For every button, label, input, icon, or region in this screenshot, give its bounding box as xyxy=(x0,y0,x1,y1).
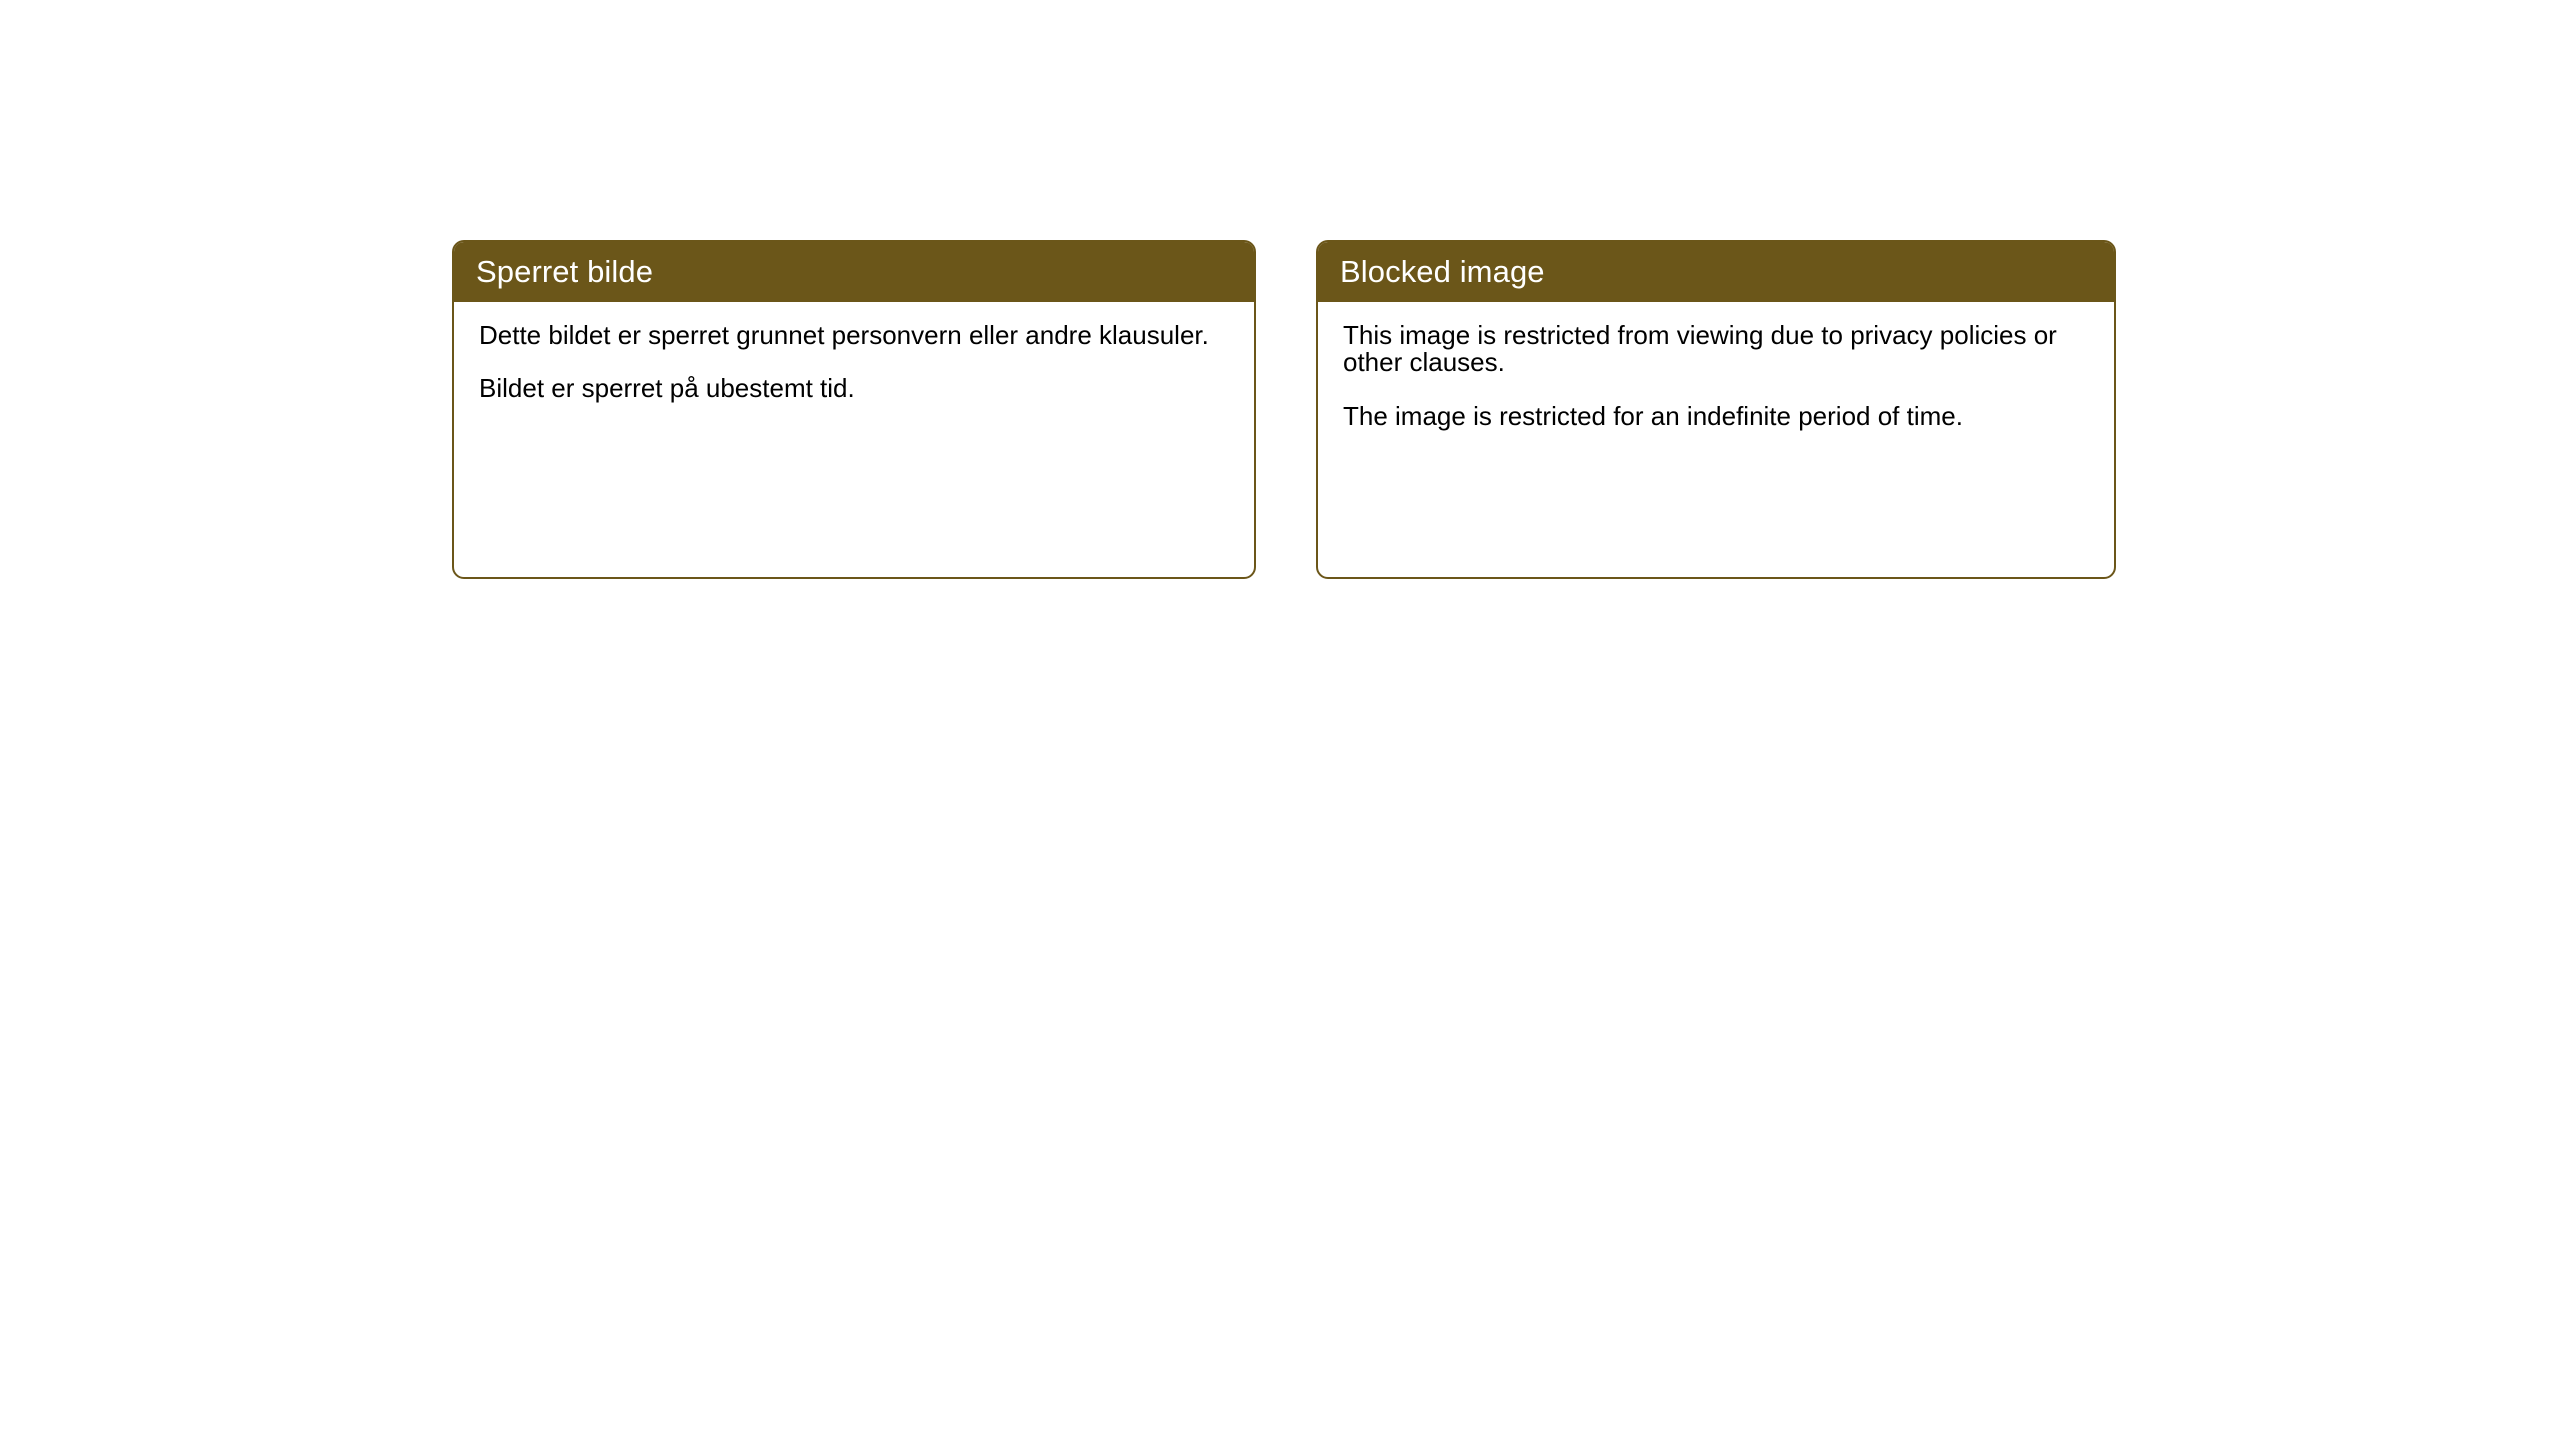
notice-paragraph: Bildet er sperret på ubestemt tid. xyxy=(479,375,1232,402)
notice-paragraph: Dette bildet er sperret grunnet personve… xyxy=(479,322,1232,349)
blocked-image-notice-english: Blocked image This image is restricted f… xyxy=(1316,240,2116,579)
notice-paragraph: This image is restricted from viewing du… xyxy=(1343,322,2092,377)
notice-body-english: This image is restricted from viewing du… xyxy=(1318,302,2114,430)
notice-body-norwegian: Dette bildet er sperret grunnet personve… xyxy=(454,302,1254,403)
notice-paragraph: The image is restricted for an indefinit… xyxy=(1343,403,2092,430)
blocked-image-notice-norwegian: Sperret bilde Dette bildet er sperret gr… xyxy=(452,240,1256,579)
notice-title-norwegian: Sperret bilde xyxy=(476,256,653,287)
notice-title-english: Blocked image xyxy=(1340,256,1545,287)
notice-header-english: Blocked image xyxy=(1317,241,2115,302)
page-canvas: Sperret bilde Dette bildet er sperret gr… xyxy=(0,0,2560,1440)
notice-header-norwegian: Sperret bilde xyxy=(453,241,1255,302)
